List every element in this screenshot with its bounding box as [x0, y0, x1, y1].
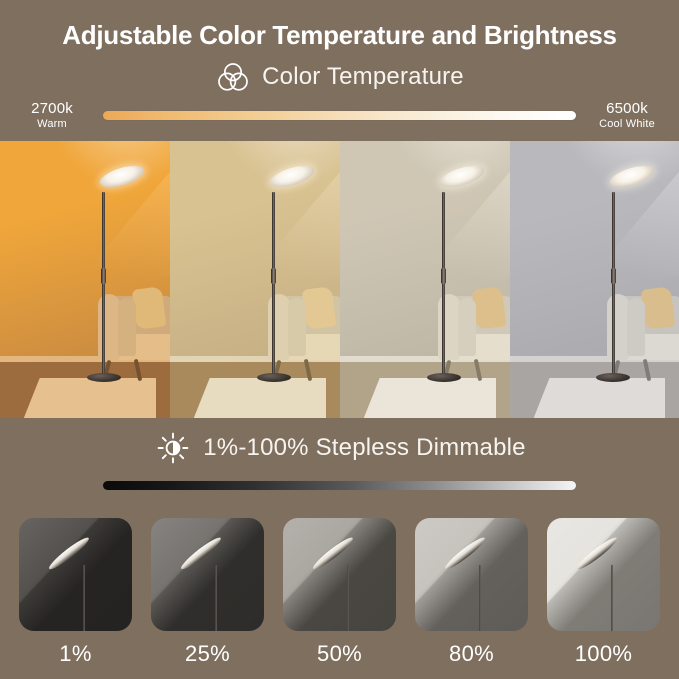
- brightness-thumbnail-100[interactable]: [547, 518, 660, 631]
- thumb-lamp-pole: [479, 565, 481, 631]
- ct-right-endpoint: 6500k Cool White: [579, 100, 675, 131]
- rug: [24, 378, 157, 418]
- sun-brightness-icon: [153, 428, 193, 468]
- scene-2700k-warm: [0, 141, 170, 418]
- tile-sheen: [283, 518, 396, 631]
- tile-sheen: [19, 518, 132, 631]
- rug: [364, 378, 497, 418]
- ct-left-kelvin: 2700k: [4, 100, 100, 117]
- brightness-thumbnail-80[interactable]: [415, 518, 528, 631]
- color-temperature-label: Color Temperature: [262, 63, 464, 91]
- lamp-pole: [442, 192, 445, 376]
- brightness-label-100: 100%: [547, 641, 660, 675]
- brightness-thumbnail-1[interactable]: [19, 518, 132, 631]
- ct-left-name: Warm: [4, 117, 100, 131]
- lamp-pole: [612, 192, 615, 376]
- tile-sheen: [415, 518, 528, 631]
- thumb-lamp-pole: [83, 565, 85, 631]
- brightness-label-50: 50%: [283, 641, 396, 675]
- lamp-base: [257, 373, 291, 382]
- lamp-pole: [102, 192, 105, 376]
- ct-left-endpoint: 2700k Warm: [4, 100, 100, 131]
- color-temperature-gradient-bar[interactable]: [103, 111, 576, 120]
- pillow: [302, 286, 337, 329]
- tile-sheen: [151, 518, 264, 631]
- lamp-base: [87, 373, 121, 382]
- ct-right-name: Cool White: [579, 117, 675, 131]
- lamp-base: [427, 373, 461, 382]
- pillow: [132, 286, 167, 329]
- scene-5000k-daylight: [340, 141, 510, 418]
- thumb-lamp-pole: [347, 565, 349, 631]
- dimming-label: 1%-100% Stepless Dimmable: [203, 434, 525, 462]
- brightness-thumbnail-50[interactable]: [283, 518, 396, 631]
- pillow: [472, 286, 507, 329]
- floor-lamp: [245, 166, 303, 380]
- rug: [534, 378, 666, 418]
- brightness-label-25: 25%: [151, 641, 264, 675]
- brightness-label-80: 80%: [415, 641, 528, 675]
- page-title: Adjustable Color Temperature and Brightn…: [0, 20, 679, 51]
- scene-6500k-cool-white: [510, 141, 679, 418]
- color-temperature-scene-strip: [0, 141, 679, 418]
- ct-right-kelvin: 6500k: [579, 100, 675, 117]
- floor-lamp: [415, 166, 473, 380]
- infographic-page: Adjustable Color Temperature and Brightn…: [0, 0, 679, 679]
- color-circles-icon: [215, 60, 251, 94]
- lamp-pole: [272, 192, 275, 376]
- brightness-label-row: 1%25%50%80%100%: [0, 641, 679, 675]
- brightness-thumbnail-25[interactable]: [151, 518, 264, 631]
- brightness-gradient-bar[interactable]: [103, 481, 576, 490]
- brightness-thumbnail-row: [0, 518, 679, 638]
- rug: [194, 378, 327, 418]
- color-temperature-heading: Color Temperature: [0, 60, 679, 94]
- tile-sheen: [547, 518, 660, 631]
- floor-lamp: [584, 166, 642, 380]
- scene-3500k-soft-white: [170, 141, 340, 418]
- thumb-lamp-pole: [215, 565, 217, 631]
- brightness-label-1: 1%: [19, 641, 132, 675]
- floor-lamp: [75, 166, 133, 380]
- pillow: [641, 286, 676, 329]
- dimming-heading: 1%-100% Stepless Dimmable: [0, 428, 679, 468]
- thumb-lamp-pole: [611, 565, 613, 631]
